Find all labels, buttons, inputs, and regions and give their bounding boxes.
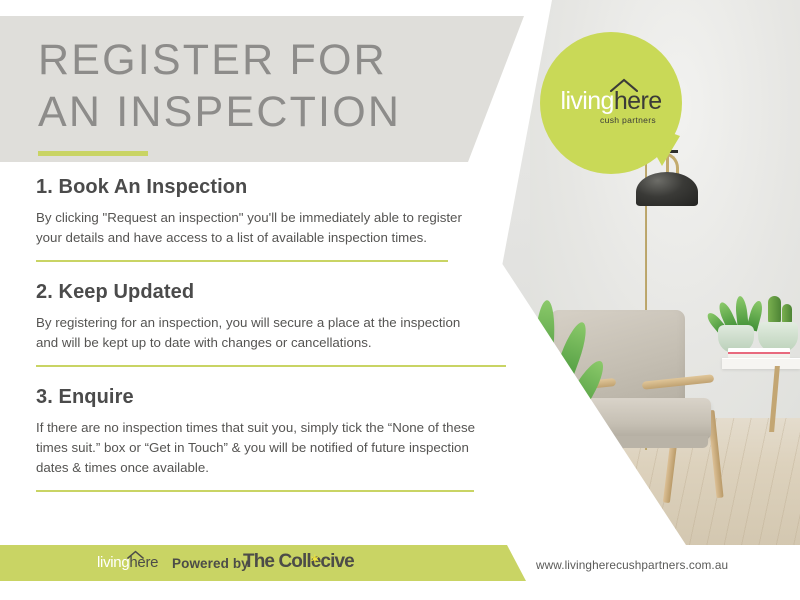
- steps-list: 1. Book An Inspection By clicking "Reque…: [0, 176, 520, 492]
- step-divider: [36, 490, 474, 492]
- partner-logo: The Collecive: [243, 551, 354, 573]
- powered-by-label: Powered by: [172, 556, 249, 571]
- house-roof-icon: [127, 550, 144, 559]
- step-body: By clicking "Request an inspection" you'…: [36, 208, 481, 247]
- step-heading: 3. Enquire: [36, 386, 520, 409]
- stacked-books: [728, 348, 790, 358]
- header-accent-rule: [38, 151, 148, 156]
- step-divider: [36, 260, 448, 262]
- step-item-2: 2. Keep Updated By registering for an in…: [0, 281, 520, 367]
- floor-lamp-shade: [636, 172, 698, 206]
- logo-badge: livinghere cush partners: [540, 32, 682, 174]
- slide-root: REGISTER FOR AN INSPECTION livinghere cu…: [0, 0, 800, 600]
- sparkle-icon: ✶: [309, 552, 321, 566]
- partner-name-post: ive: [330, 551, 354, 572]
- step-item-3: 3. Enquire If there are no inspection ti…: [0, 386, 520, 492]
- footer-website-url[interactable]: www.livingherecushpartners.com.au: [536, 558, 728, 572]
- step-item-1: 1. Book An Inspection By clicking "Reque…: [0, 176, 520, 262]
- step-body: By registering for an inspection, you wi…: [36, 313, 481, 352]
- step-body: If there are no inspection times that su…: [36, 418, 481, 477]
- logo-wordmark: livinghere: [540, 88, 682, 115]
- step-heading: 2. Keep Updated: [36, 281, 520, 304]
- footer-word-living: living: [97, 554, 129, 571]
- side-table: [722, 358, 800, 369]
- logo-tagline: cush partners: [540, 115, 682, 125]
- step-heading: 1. Book An Inspection: [36, 176, 520, 199]
- logo-word-living: living: [560, 87, 613, 115]
- logo-word-here: here: [614, 87, 662, 115]
- step-divider: [36, 365, 506, 367]
- page-title: REGISTER FOR AN INSPECTION: [38, 34, 458, 138]
